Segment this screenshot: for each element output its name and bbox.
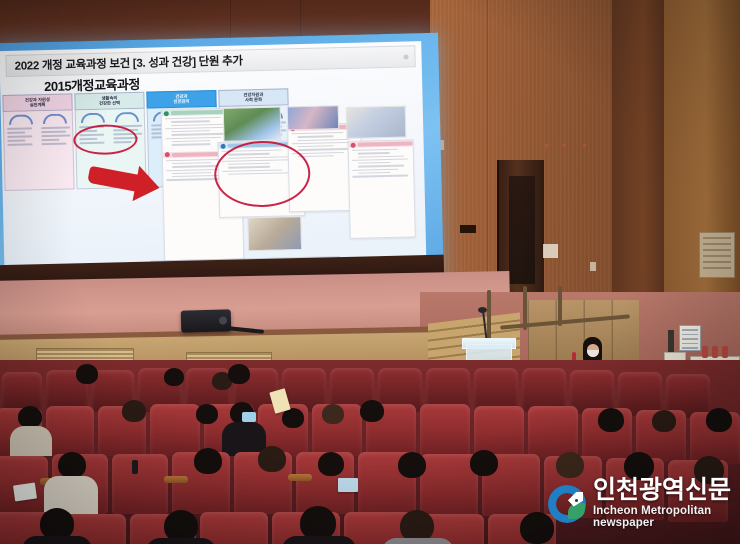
audience-shoulders (10, 426, 52, 456)
textbook-toc-far-right (348, 139, 416, 239)
handrail-post (487, 290, 491, 342)
audience-head (300, 506, 336, 540)
audience-head (196, 404, 218, 424)
projection-screen: 2022 개정 교육과정 보건 [3. 성과 건강] 단원 추가 2015개정교… (0, 33, 444, 293)
seat[interactable] (112, 454, 168, 514)
textbook-photo (247, 216, 302, 251)
bottle (722, 346, 728, 358)
audience-shoulders (146, 538, 216, 544)
door-sign (543, 244, 558, 258)
seat[interactable] (528, 406, 578, 458)
audience-head (282, 408, 304, 428)
seat[interactable] (420, 404, 470, 456)
handout-paper[interactable] (13, 483, 37, 502)
seat[interactable] (200, 512, 268, 544)
audience-head (322, 404, 344, 424)
column-header: 건강과 자원성실천계획 (2, 93, 72, 112)
stage-riser (528, 300, 555, 366)
wall-control-panel[interactable] (460, 225, 476, 233)
handrail-post (523, 286, 527, 330)
seat-armrest (288, 474, 312, 481)
audience-head (470, 450, 498, 476)
audience-head (18, 406, 42, 428)
watermark: 인천광역신문 Incheon Metropolitan newspaper (548, 478, 740, 529)
textbook-photo (346, 106, 407, 139)
audience-head (318, 452, 344, 476)
presentation-slide: 2022 개정 교육과정 보건 [3. 성과 건강] 단원 추가 2015개정교… (0, 41, 426, 273)
arc-icon (81, 113, 105, 124)
wall-light-switch[interactable] (590, 262, 596, 271)
column-header: 건강과안전관리 (146, 90, 216, 109)
audience-head (360, 400, 384, 422)
handrail-post (558, 286, 562, 326)
audience-shoulders (22, 536, 92, 544)
slide-title-marker (403, 54, 408, 59)
seat-armrest (164, 476, 188, 483)
audience-head (598, 408, 624, 432)
column-body (3, 110, 75, 191)
slide-title-bar: 2022 개정 교육과정 보건 [3. 성과 건강] 단원 추가 (5, 45, 415, 77)
equipment-sign (679, 325, 701, 351)
audience-head (258, 446, 286, 472)
projector-lens (219, 316, 227, 324)
textbook-photo (287, 105, 340, 130)
audience-head (122, 400, 146, 422)
arrow-head (133, 166, 163, 206)
watermark-korean: 인천광역신문 (593, 478, 740, 503)
bottle (712, 346, 718, 358)
handout-paper[interactable] (338, 478, 358, 492)
watermark-text: 인천광역신문 Incheon Metropolitan newspaper (593, 478, 740, 529)
bottle (702, 346, 708, 358)
watermark-english: Incheon Metropolitan newspaper (593, 506, 740, 529)
arc-icon (115, 112, 139, 123)
toc-section-bar (349, 140, 413, 148)
textbook-photo (223, 106, 282, 141)
projector (181, 309, 232, 332)
audience-shoulders (282, 536, 356, 544)
audience-head (228, 364, 250, 384)
wall-marker-dot (545, 144, 548, 147)
audience-head (706, 408, 732, 432)
arc-icon (9, 114, 33, 125)
audience-head (164, 368, 184, 386)
slide-title: 2022 개정 교육과정 보건 [3. 성과 건강] 단원 추가 (6, 52, 242, 74)
wall-marker-dot (583, 144, 586, 147)
screenshot-root: 2022 개정 교육과정 보건 [3. 성과 건강] 단원 추가 2015개정교… (0, 0, 740, 544)
phone-screen[interactable] (242, 412, 256, 422)
seat[interactable] (150, 404, 200, 456)
wall-marker-dot (563, 144, 566, 147)
logo-leaf (568, 503, 585, 519)
door-window (509, 176, 535, 284)
stage-riser (612, 300, 639, 366)
audience-head (652, 410, 676, 432)
incheon-newspaper-logo-icon (548, 485, 586, 523)
audience-head (194, 448, 222, 474)
audience-head (398, 452, 426, 478)
audience-head (556, 452, 584, 478)
column-header: 생활속의건강한 선택 (74, 92, 144, 111)
seat[interactable] (46, 406, 94, 456)
arc-icon (43, 114, 67, 125)
column-header: 건강자원과사회 문화 (218, 88, 288, 107)
audience-head (76, 364, 98, 384)
curriculum-column: 건강과 자원성실천계획 (2, 93, 74, 191)
audience-shoulders (382, 538, 454, 544)
audience-head (58, 452, 86, 478)
wall-notice-frame (699, 232, 735, 278)
water-bottle[interactable] (132, 460, 138, 474)
seat[interactable] (2, 372, 42, 412)
